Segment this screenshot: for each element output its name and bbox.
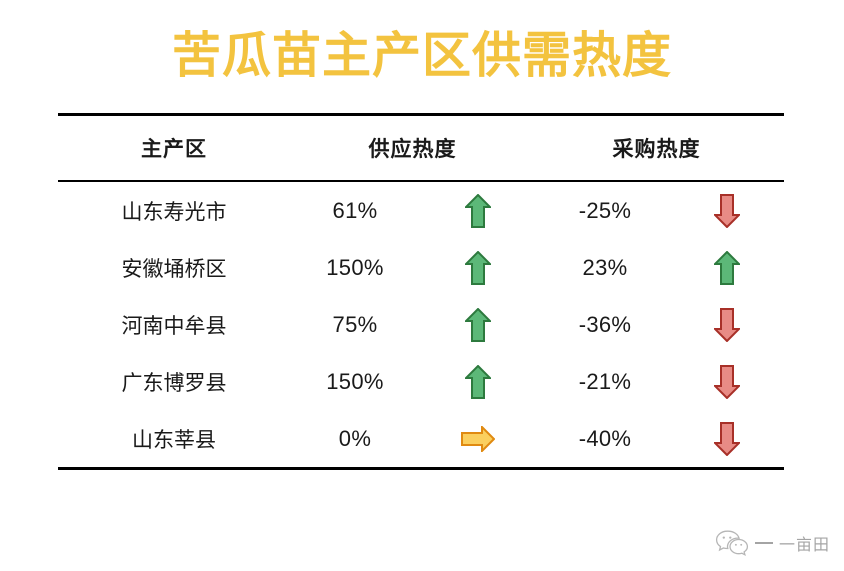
cell-supply-value: 0% [290, 426, 420, 452]
cell-region: 广东博罗县 [58, 367, 290, 397]
cell-purchase-value: -36% [535, 312, 675, 338]
cell-purchase-value: -21% [535, 369, 675, 395]
table-row: 河南中牟县 75% -36% [58, 296, 784, 353]
purchase-trend-down-icon [675, 296, 778, 353]
purchase-trend-down-icon [675, 353, 778, 410]
cell-region: 山东寿光市 [58, 196, 290, 226]
column-header-region: 主产区 [58, 133, 290, 163]
supply-trend-up-icon [420, 353, 535, 410]
watermark-divider [755, 542, 773, 544]
purchase-trend-down-icon [675, 182, 778, 239]
table-row: 安徽埇桥区 150% 23% [58, 239, 784, 296]
watermark-label: 一亩田 [779, 531, 830, 555]
cell-region: 山东莘县 [58, 424, 290, 454]
purchase-trend-down-icon [675, 410, 778, 467]
cell-purchase-value: -40% [535, 426, 675, 452]
page-title: 苦瓜苗主产区供需热度 [0, 26, 844, 86]
cell-supply-value: 61% [290, 198, 420, 224]
supply-trend-up-icon [420, 296, 535, 353]
cell-supply-value: 150% [290, 369, 420, 395]
cell-region: 河南中牟县 [58, 310, 290, 340]
cell-purchase-value: -25% [535, 198, 675, 224]
watermark: 一亩田 [715, 529, 830, 557]
supply-trend-up-icon [420, 182, 535, 239]
cell-region: 安徽埇桥区 [58, 253, 290, 283]
wechat-icon [715, 529, 749, 557]
cell-supply-value: 75% [290, 312, 420, 338]
table-row: 山东莘县 0% -40% [58, 410, 784, 467]
heat-table: 主产区 供应热度 采购热度 山东寿光市 61% -25% 安徽埇桥区 150% … [58, 113, 784, 470]
table-row: 山东寿光市 61% -25% [58, 182, 784, 239]
cell-supply-value: 150% [290, 255, 420, 281]
column-header-supply: 供应热度 [290, 133, 535, 163]
column-header-purchase: 采购热度 [535, 133, 778, 163]
purchase-trend-up-icon [675, 239, 778, 296]
cell-purchase-value: 23% [535, 255, 675, 281]
supply-trend-flat-icon [420, 410, 535, 467]
supply-trend-up-icon [420, 239, 535, 296]
table-row: 广东博罗县 150% -21% [58, 353, 784, 410]
table-header-row: 主产区 供应热度 采购热度 [58, 116, 784, 182]
